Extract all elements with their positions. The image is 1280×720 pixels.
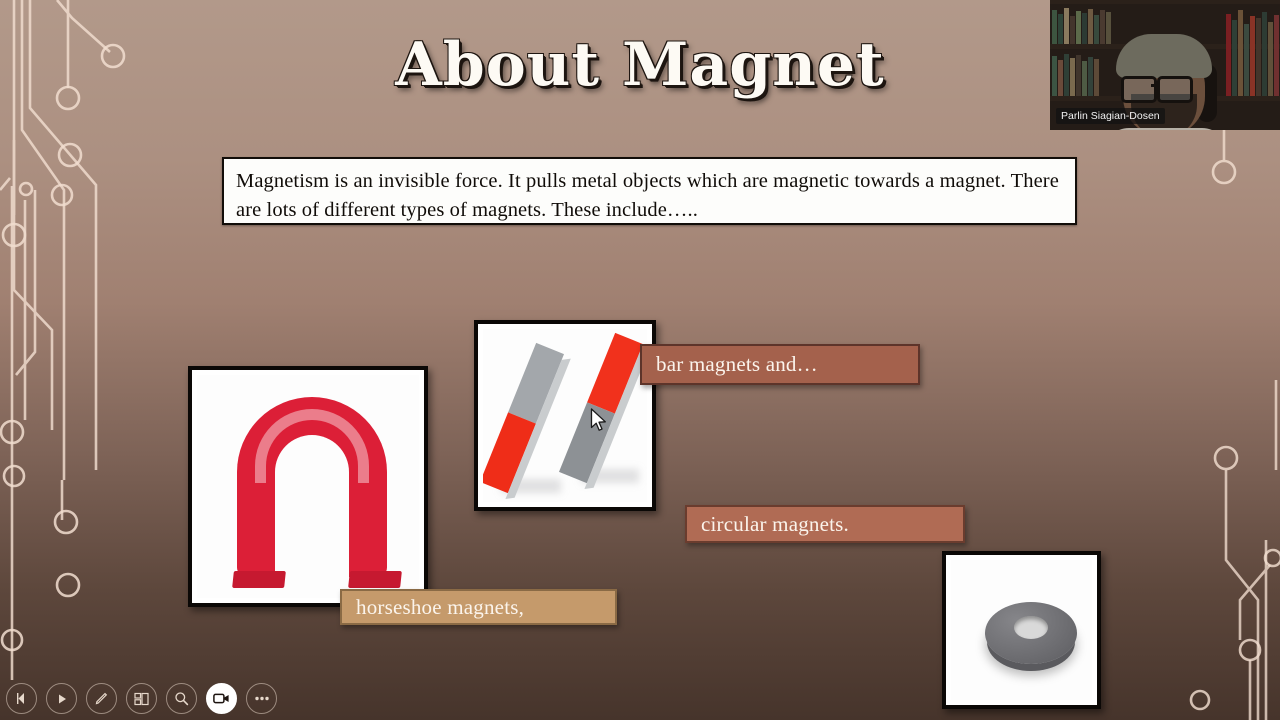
image-circular-magnet (942, 551, 1101, 709)
glasses-bridge (1151, 84, 1160, 87)
callout-horseshoe-magnets: horseshoe magnets, (340, 589, 617, 625)
horseshoe-magnet-drawing (197, 375, 419, 598)
glasses-left-lens (1121, 76, 1157, 103)
intro-text-box: Magnetism is an invisible force. It pull… (222, 157, 1077, 225)
ellipsis-icon (254, 696, 270, 701)
bookshelf-row-2 (1052, 52, 1099, 96)
camera-icon (213, 692, 230, 705)
webcam-participant-name: Parlin Siagian-Dosen (1056, 108, 1165, 124)
play-slide-button[interactable] (46, 683, 77, 714)
image-horseshoe-magnet (188, 366, 428, 607)
zoom-search-button[interactable] (166, 683, 197, 714)
ring-magnet-hole (1014, 616, 1048, 639)
glasses-right-lens (1157, 76, 1193, 103)
callout-bar-magnets: bar magnets and… (640, 344, 920, 385)
more-options-button[interactable] (246, 683, 277, 714)
bookshelf-row-1 (1052, 6, 1111, 44)
presentation-toolbar (6, 683, 277, 714)
image-bar-magnets (474, 320, 656, 511)
play-icon (56, 693, 68, 705)
ring-photo-canvas (951, 560, 1092, 700)
slide-layout-button[interactable] (126, 683, 157, 714)
bar-photo-canvas (483, 329, 647, 502)
webcam-overlay[interactable]: Parlin Siagian-Dosen (1050, 0, 1280, 130)
pen-icon (94, 691, 109, 706)
bookshelf-row-3 (1226, 6, 1279, 96)
intro-paragraph: Magnetism is an invisible force. It pull… (236, 167, 1063, 225)
bar-magnet-left (483, 343, 564, 493)
magnifier-icon (174, 691, 189, 706)
annotate-pen-button[interactable] (86, 683, 117, 714)
participant-beanie (1116, 34, 1212, 78)
participant-shoulders (1103, 128, 1228, 130)
mouse-cursor (590, 408, 608, 434)
presentation-slide: About Magnet Magnetism is an invisible f… (0, 0, 1280, 720)
callout-circular-magnets: circular magnets. (685, 505, 965, 543)
previous-slide-button[interactable] (6, 683, 37, 714)
horseshoe-photo-canvas (197, 375, 419, 598)
circuit-decoration-left (0, 0, 150, 720)
camera-button[interactable] (206, 683, 237, 714)
grid-icon (134, 692, 149, 706)
